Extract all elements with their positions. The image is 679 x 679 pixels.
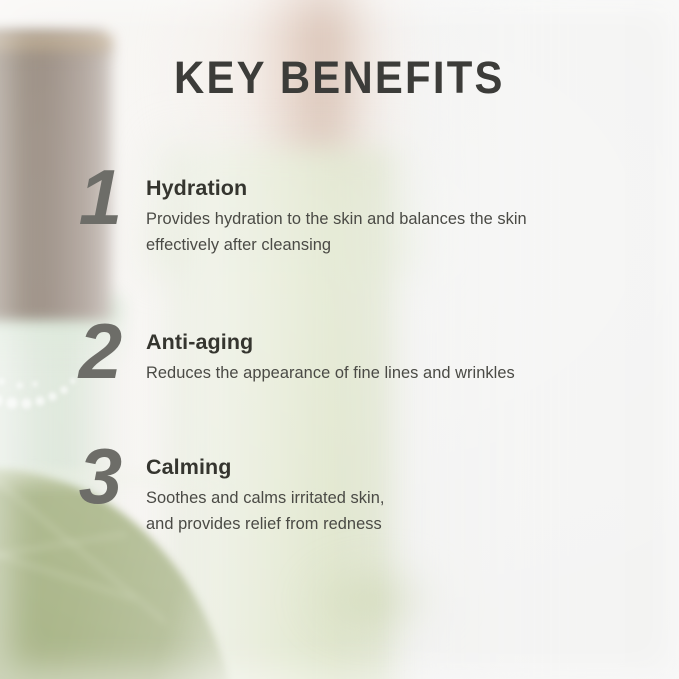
benefit-description-3: Soothes and calms irritated skin, and pr… [146,485,646,538]
benefit-text-block-2: Anti-aging Reduces the appearance of fin… [146,330,646,386]
benefit-number-3: 3 [68,437,132,515]
benefit-heading-3: Calming [146,455,646,480]
benefit-description-1: Provides hydration to the skin and balan… [146,206,646,259]
benefit-heading-2: Anti-aging [146,330,646,355]
benefit-text-block-3: Calming Soothes and calms irritated skin… [146,455,646,538]
key-benefits-infographic: KEY BENEFITS 1 Hydration Provides hydrat… [0,0,679,679]
benefit-number-1: 1 [68,158,132,236]
content-layer: KEY BENEFITS 1 Hydration Provides hydrat… [0,0,679,679]
benefit-text-block-1: Hydration Provides hydration to the skin… [146,176,646,259]
page-title: KEY BENEFITS [174,52,505,104]
benefit-heading-1: Hydration [146,176,646,201]
benefit-description-2: Reduces the appearance of fine lines and… [146,360,646,387]
benefit-number-2: 2 [68,312,132,390]
